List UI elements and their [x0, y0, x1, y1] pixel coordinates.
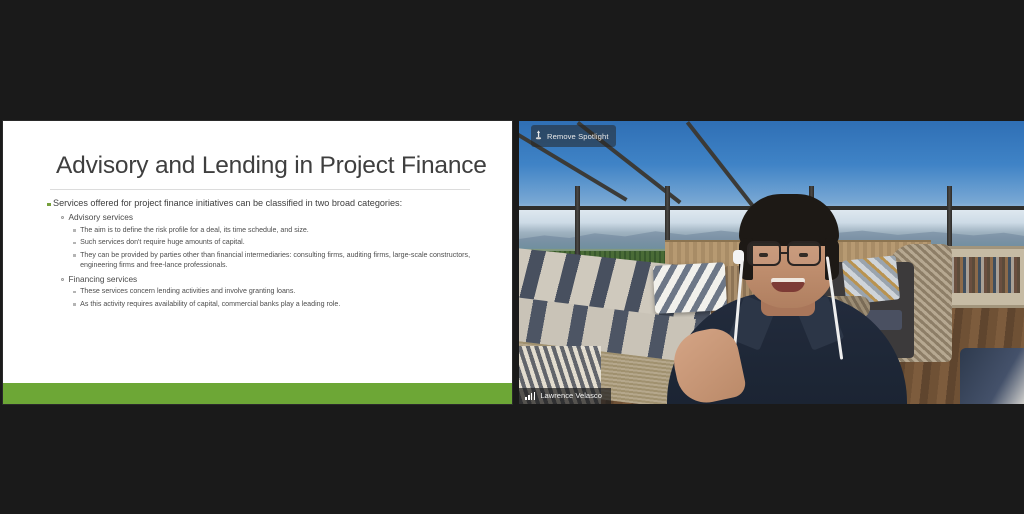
- spotlight-icon: [534, 127, 543, 145]
- small-square-bullet-icon: [73, 229, 76, 232]
- slide-bullet-text: Advisory services: [69, 211, 134, 223]
- glasses-lens-right: [787, 241, 821, 266]
- shared-slide-panel[interactable]: Advisory and Lending in Project Finance …: [2, 120, 513, 405]
- slide-bullet-text: As this activity requires availability o…: [80, 299, 340, 309]
- slide-bullet: Advisory services: [61, 211, 497, 223]
- remove-spotlight-button[interactable]: Remove Spotlight: [531, 125, 616, 147]
- audio-level-bars-icon: [525, 392, 535, 400]
- speaker-video-tile[interactable]: Remove Spotlight Lawrence Velasco: [519, 121, 1024, 404]
- slide-bullet: These services concern lending activitie…: [73, 286, 497, 296]
- slide-bullet: The aim is to define the risk profile fo…: [73, 225, 497, 235]
- slide-bullet: As this activity requires availability o…: [73, 299, 497, 309]
- slide-body: Services offered for project finance ini…: [47, 197, 497, 311]
- hollow-circle-bullet-icon: [61, 216, 64, 219]
- meeting-screen: Advisory and Lending in Project Finance …: [0, 0, 1024, 514]
- small-square-bullet-icon: [73, 303, 76, 306]
- small-square-bullet-icon: [73, 254, 76, 257]
- slide-title: Advisory and Lending in Project Finance: [56, 152, 487, 180]
- slide-accent-bar: [3, 383, 512, 404]
- slide-bullet-text: These services concern lending activitie…: [80, 286, 295, 296]
- glasses-bridge: [781, 252, 787, 254]
- hollow-circle-bullet-icon: [61, 278, 64, 281]
- slide-bullet: They can be provided by parties other th…: [73, 250, 497, 270]
- slide-bullet-text: Such services don't require huge amounts…: [80, 237, 245, 247]
- slide-bullet: Such services don't require huge amounts…: [73, 237, 497, 247]
- slide-title-divider: [50, 189, 470, 190]
- slide-bullet-text: The aim is to define the risk profile fo…: [80, 225, 309, 235]
- green-square-bullet-icon: [47, 203, 51, 207]
- slide-bullet: Services offered for project finance ini…: [47, 197, 497, 210]
- remove-spotlight-label: Remove Spotlight: [547, 132, 609, 141]
- foreground-furniture: [960, 348, 1024, 404]
- small-square-bullet-icon: [73, 242, 76, 245]
- glasses-lens-left: [747, 241, 781, 266]
- participant-name-label: Lawrence Velasco: [540, 391, 602, 400]
- slide-bullet: Financing services: [61, 273, 497, 285]
- mouth: [771, 278, 805, 292]
- participant-figure: [657, 172, 917, 404]
- participant-name-badge: Lawrence Velasco: [519, 388, 611, 404]
- hair: [739, 194, 839, 246]
- slide-bullet-text: Services offered for project finance ini…: [53, 197, 402, 210]
- slide-bullet-text: They can be provided by parties other th…: [80, 250, 497, 270]
- slide-bullet-text: Financing services: [69, 273, 138, 285]
- small-square-bullet-icon: [73, 291, 76, 294]
